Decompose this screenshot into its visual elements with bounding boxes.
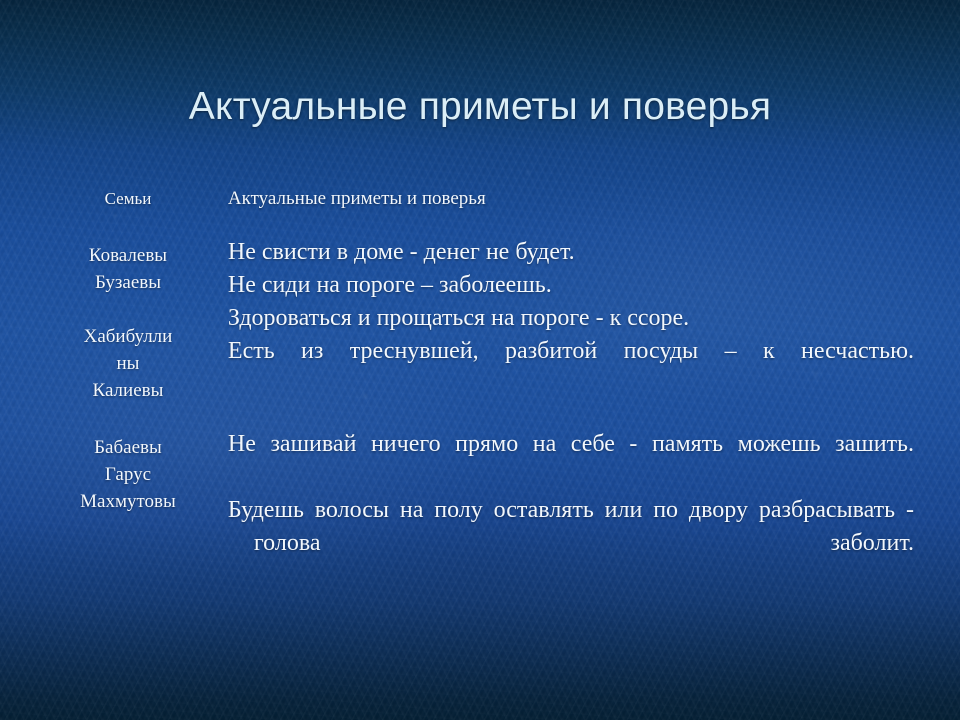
table-row: Бабаевы Гарус Махмутовы Не зашивай ничег… (46, 428, 914, 593)
belief-item: Не зашивай ничего прямо на себе - память… (228, 428, 914, 494)
column-header-beliefs: Актуальные приметы и поверья (216, 186, 914, 212)
spacer-cell-left (46, 404, 216, 428)
table-header-row: Семьи Актуальные приметы и поверья (46, 186, 914, 212)
spacer-cell-left (46, 212, 216, 236)
family-names-cell-2: Бабаевы Гарус Махмутовы (46, 428, 216, 593)
family-name: Хабибулли (46, 323, 210, 350)
block-spacer-row (46, 404, 914, 428)
family-name-continuation: ны (46, 350, 210, 377)
belief-item: Будешь волосы на полу оставлять или по д… (228, 494, 914, 593)
family-name: Калиевы (46, 377, 210, 404)
belief-item: Здороваться и прощаться на пороге - к сс… (228, 302, 914, 335)
header-spacer-row (46, 212, 914, 236)
family-name: Бабаевы (46, 434, 210, 461)
spacer-cell-right (216, 212, 914, 236)
beliefs-cell-2: Не зашивай ничего прямо на себе - память… (216, 428, 914, 593)
belief-item: Не свисти в доме - денег не будет. (228, 236, 914, 269)
presentation-slide: Актуальные приметы и поверья Семьи Актуа… (0, 0, 960, 720)
family-name: Гарус (46, 461, 210, 488)
table-row: Ковалевы Бузаевы Хабибулли ны Калиевы Не… (46, 236, 914, 404)
family-name: Ковалевы (46, 242, 210, 269)
spacer-cell-right (216, 404, 914, 428)
family-name-gap (46, 296, 210, 323)
family-name: Бузаевы (46, 269, 210, 296)
family-name: Махмутовы (46, 488, 210, 515)
belief-item: Не сиди на пороге – заболеешь. (228, 269, 914, 302)
beliefs-cell-1: Не свисти в доме - денег не будет. Не си… (216, 236, 914, 404)
belief-item: Есть из треснувшей, разбитой посуды – к … (228, 335, 914, 401)
column-header-families: Семьи (46, 186, 216, 212)
beliefs-table: Семьи Актуальные приметы и поверья Ковал… (46, 186, 914, 593)
page-title: Актуальные приметы и поверья (0, 84, 960, 130)
family-names-cell-1: Ковалевы Бузаевы Хабибулли ны Калиевы (46, 236, 216, 404)
